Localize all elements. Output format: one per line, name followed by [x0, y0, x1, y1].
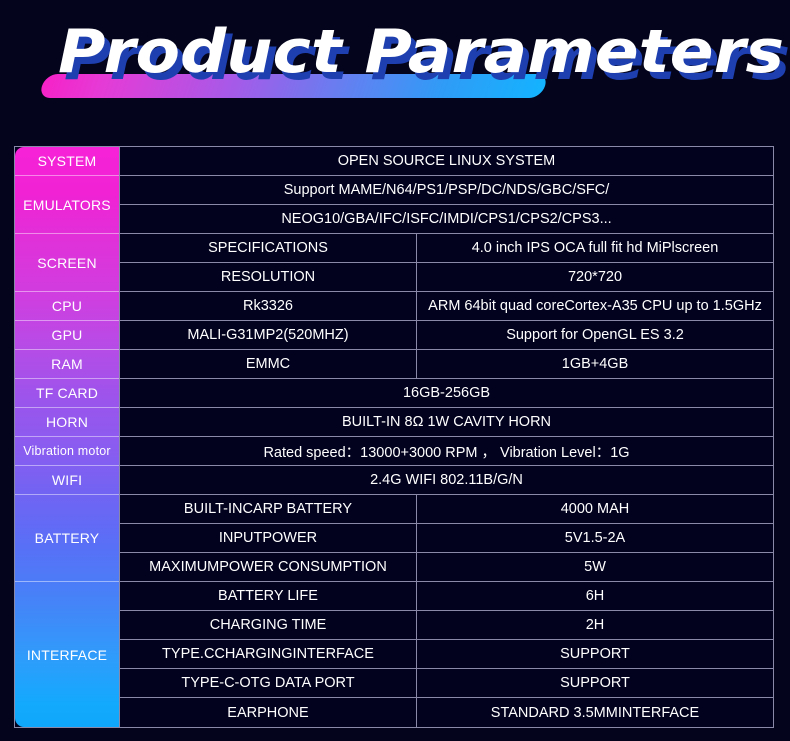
category-cell-wifi: WIFI — [15, 466, 119, 495]
table-row: OPEN SOURCE LINUX SYSTEM — [119, 147, 773, 176]
category-cell-screen: SCREEN — [15, 234, 119, 292]
spec-value: STANDARD 3.5MMINTERFACE — [417, 698, 773, 727]
table-row: BUILT-IN 8Ω 1W CAVITY HORN — [119, 408, 773, 437]
spec-value: 2.4G WIFI 802.11B/G/N — [120, 466, 773, 494]
category-column: SYSTEMEMULATORSSCREENCPUGPURAMTF CARDHOR… — [15, 147, 119, 727]
table-row: CHARGING TIME2H — [119, 611, 773, 640]
table-row: BATTERY LIFE6H — [119, 582, 773, 611]
category-cell-interface: INTERFACE — [15, 582, 119, 727]
spec-name: CHARGING TIME — [120, 611, 417, 639]
spec-name: RESOLUTION — [120, 263, 417, 291]
table-row: MALI-G31MP2(520MHZ)Support for OpenGL ES… — [119, 321, 773, 350]
category-cell-battery: BATTERY — [15, 495, 119, 582]
product-parameters-table: SYSTEMEMULATORSSCREENCPUGPURAMTF CARDHOR… — [14, 146, 774, 728]
table-row: BUILT-INCARP BATTERY4000 MAH — [119, 495, 773, 524]
table-row: MAXIMUMPOWER CONSUMPTION5W — [119, 553, 773, 582]
spec-value: 1GB+4GB — [417, 350, 773, 378]
spec-value: 4000 MAH — [417, 495, 773, 523]
spec-value: 6H — [417, 582, 773, 610]
category-cell-cpu: CPU — [15, 292, 119, 321]
spec-name: BATTERY LIFE — [120, 582, 417, 610]
spec-value: SUPPORT — [417, 669, 773, 697]
page-title: Product Parameters — [58, 22, 784, 82]
spec-rows-column: OPEN SOURCE LINUX SYSTEMSupport MAME/N64… — [119, 147, 773, 727]
spec-value: BUILT-IN 8Ω 1W CAVITY HORN — [120, 408, 773, 436]
spec-value: NEOG10/GBA/IFC/ISFC/IMDI/CPS1/CPS2/CPS3.… — [120, 205, 773, 233]
spec-name: EARPHONE — [120, 698, 417, 727]
spec-name: TYPE.CCHARGINGINTERFACE — [120, 640, 417, 668]
table-row: RESOLUTION720*720 — [119, 263, 773, 292]
spec-name: MALI-G31MP2(520MHZ) — [120, 321, 417, 349]
spec-value: Rated speed：13000+3000 RPM ， Vibration L… — [120, 437, 773, 465]
table-row: Rk3326ARM 64bit quad coreCortex-A35 CPU … — [119, 292, 773, 321]
spec-name: SPECIFICATIONS — [120, 234, 417, 262]
table-row: Support MAME/N64/PS1/PSP/DC/NDS/GBC/SFC/ — [119, 176, 773, 205]
table-row: Rated speed：13000+3000 RPM ， Vibration L… — [119, 437, 773, 466]
spec-value: 4.0 inch IPS OCA full fit hd MiPlscreen — [417, 234, 773, 262]
category-cell-vibration-motor: Vibration motor — [15, 437, 119, 466]
table-row: EMMC1GB+4GB — [119, 350, 773, 379]
table-row: SPECIFICATIONS4.0 inch IPS OCA full fit … — [119, 234, 773, 263]
table-row: TYPE.CCHARGINGINTERFACESUPPORT — [119, 640, 773, 669]
category-cell-tf-card: TF CARD — [15, 379, 119, 408]
spec-name: EMMC — [120, 350, 417, 378]
category-cell-system: SYSTEM — [15, 147, 119, 176]
spec-name: INPUTPOWER — [120, 524, 417, 552]
spec-value: SUPPORT — [417, 640, 773, 668]
spec-value: 5W — [417, 553, 773, 581]
page-header: Product Parameters Product Parameters — [0, 0, 790, 140]
spec-value: 720*720 — [417, 263, 773, 291]
spec-value: 16GB-256GB — [120, 379, 773, 407]
category-cell-emulators: EMULATORS — [15, 176, 119, 234]
table-row: 2.4G WIFI 802.11B/G/N — [119, 466, 773, 495]
spec-name: BUILT-INCARP BATTERY — [120, 495, 417, 523]
spec-value: ARM 64bit quad coreCortex-A35 CPU up to … — [417, 292, 773, 320]
table-row: INPUTPOWER5V1.5-2A — [119, 524, 773, 553]
category-cell-ram: RAM — [15, 350, 119, 379]
category-cell-gpu: GPU — [15, 321, 119, 350]
table-row: EARPHONESTANDARD 3.5MMINTERFACE — [119, 698, 773, 727]
category-cell-horn: HORN — [15, 408, 119, 437]
table-row: TYPE-C-OTG DATA PORTSUPPORT — [119, 669, 773, 698]
spec-value: 2H — [417, 611, 773, 639]
spec-value: OPEN SOURCE LINUX SYSTEM — [120, 147, 773, 175]
table-row: 16GB-256GB — [119, 379, 773, 408]
table-row: NEOG10/GBA/IFC/ISFC/IMDI/CPS1/CPS2/CPS3.… — [119, 205, 773, 234]
spec-value: Support MAME/N64/PS1/PSP/DC/NDS/GBC/SFC/ — [120, 176, 773, 204]
spec-name: Rk3326 — [120, 292, 417, 320]
spec-value: Support for OpenGL ES 3.2 — [417, 321, 773, 349]
spec-name: TYPE-C-OTG DATA PORT — [120, 669, 417, 697]
spec-name: MAXIMUMPOWER CONSUMPTION — [120, 553, 417, 581]
spec-value: 5V1.5-2A — [417, 524, 773, 552]
